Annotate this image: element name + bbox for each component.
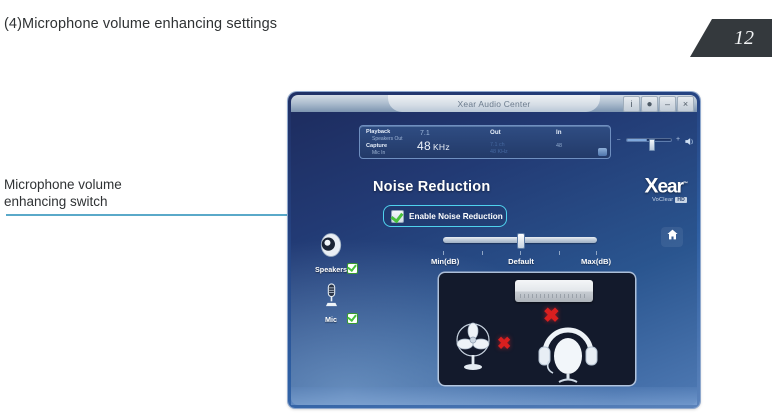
capture-device: Mic In — [372, 150, 385, 156]
volume-minus-label: – — [617, 137, 620, 143]
gear-icon[interactable]: ● — [641, 96, 658, 112]
mic-enabled-check-icon[interactable] — [347, 313, 358, 324]
logo-letter-x: X — [644, 174, 657, 197]
logo-subtitle: VoClearHD — [613, 197, 687, 203]
column-header-out: Out — [490, 129, 501, 136]
window-title-tab: Xear Audio Center — [388, 95, 599, 112]
callout-label: Microphone volume enhancing switch — [4, 176, 122, 211]
master-volume-control[interactable]: – + — [617, 133, 695, 147]
channel-count-value: 7.1 — [420, 130, 430, 137]
logo-hd-badge: HD — [675, 197, 687, 203]
home-icon — [666, 228, 679, 246]
window-title: Xear Audio Center — [458, 99, 531, 109]
noise-reduction-slider-thumb[interactable] — [517, 233, 525, 249]
logo-text-ear: ear — [657, 176, 683, 197]
headset-user-icon — [535, 323, 601, 385]
blocked-mark-fan-icon: ✖ — [497, 335, 511, 352]
info-icon[interactable]: i — [623, 96, 640, 112]
volume-slider-thumb[interactable] — [649, 139, 655, 151]
volume-plus-label: + — [676, 136, 680, 143]
playback-label: Playback — [366, 129, 390, 135]
enable-noise-reduction-label: Enable Noise Reduction — [409, 212, 503, 221]
trademark-icon: ™ — [683, 181, 687, 187]
noise-reduction-slider-track[interactable] — [443, 237, 597, 243]
xear-audio-center-window: Xear Audio Center i ● – × Playback Speak… — [288, 92, 700, 408]
column-header-in: In — [556, 129, 562, 136]
slider-label-min: Min(dB) — [431, 257, 459, 266]
air-conditioner-icon — [515, 280, 593, 302]
speaker-icon[interactable] — [684, 134, 695, 145]
callout-line-1: Microphone volume — [4, 176, 122, 193]
window-body: Xear Audio Center i ● – × Playback Speak… — [291, 95, 697, 405]
checkbox-checked-icon[interactable] — [391, 210, 404, 223]
callout-line-2: enhancing switch — [4, 193, 122, 210]
section-heading: Noise Reduction — [373, 179, 490, 195]
capture-label: Capture — [366, 143, 387, 149]
window-controls: i ● – × — [623, 96, 694, 112]
logo-wordmark: Xear™ — [613, 175, 687, 196]
sample-rate-value: 48KHz — [417, 139, 450, 153]
slider-label-max: Max(dB) — [581, 257, 611, 266]
speakers-enabled-check-icon[interactable] — [347, 263, 358, 274]
page-title: (4)Microphone volume enhancing settings — [4, 16, 277, 32]
slider-ticks — [443, 251, 597, 256]
playback-device: Speakers Out — [372, 136, 403, 142]
slider-labels: Min(dB) Default Max(dB) — [431, 257, 611, 269]
sidebar-item-speakers[interactable]: Speakers — [305, 231, 357, 274]
page-number-badge: 12 — [690, 19, 772, 57]
in-value: 48 — [556, 143, 562, 149]
close-icon[interactable]: × — [677, 96, 694, 112]
slider-label-default: Default — [508, 257, 534, 266]
window-titlebar[interactable]: Xear Audio Center i ● – × — [291, 95, 697, 112]
page-number: 12 — [734, 27, 754, 50]
enable-noise-reduction-checkbox[interactable]: Enable Noise Reduction — [383, 205, 507, 227]
speaker-cone-icon — [316, 246, 346, 263]
status-expand-icon[interactable] — [598, 148, 607, 156]
window-bottom-bar — [291, 387, 697, 405]
sidebar-item-mic[interactable]: Mic — [305, 281, 357, 324]
volume-slider-fill — [627, 139, 647, 141]
noise-reduction-illustration: ✖ ✖ — [439, 273, 635, 385]
minimize-icon[interactable]: – — [659, 96, 676, 112]
microphone-icon — [322, 296, 341, 313]
volume-slider-track[interactable] — [626, 138, 672, 142]
audio-status-panel[interactable]: Playback Speakers Out Capture Mic In 7.1… — [359, 125, 611, 159]
xear-logo: Xear™ VoClearHD — [613, 175, 687, 203]
electric-fan-icon — [453, 321, 493, 371]
out-value-bottom: 48 KHz — [490, 149, 508, 155]
home-button[interactable] — [661, 227, 683, 247]
out-value-top: 7.1 ch — [490, 142, 505, 148]
